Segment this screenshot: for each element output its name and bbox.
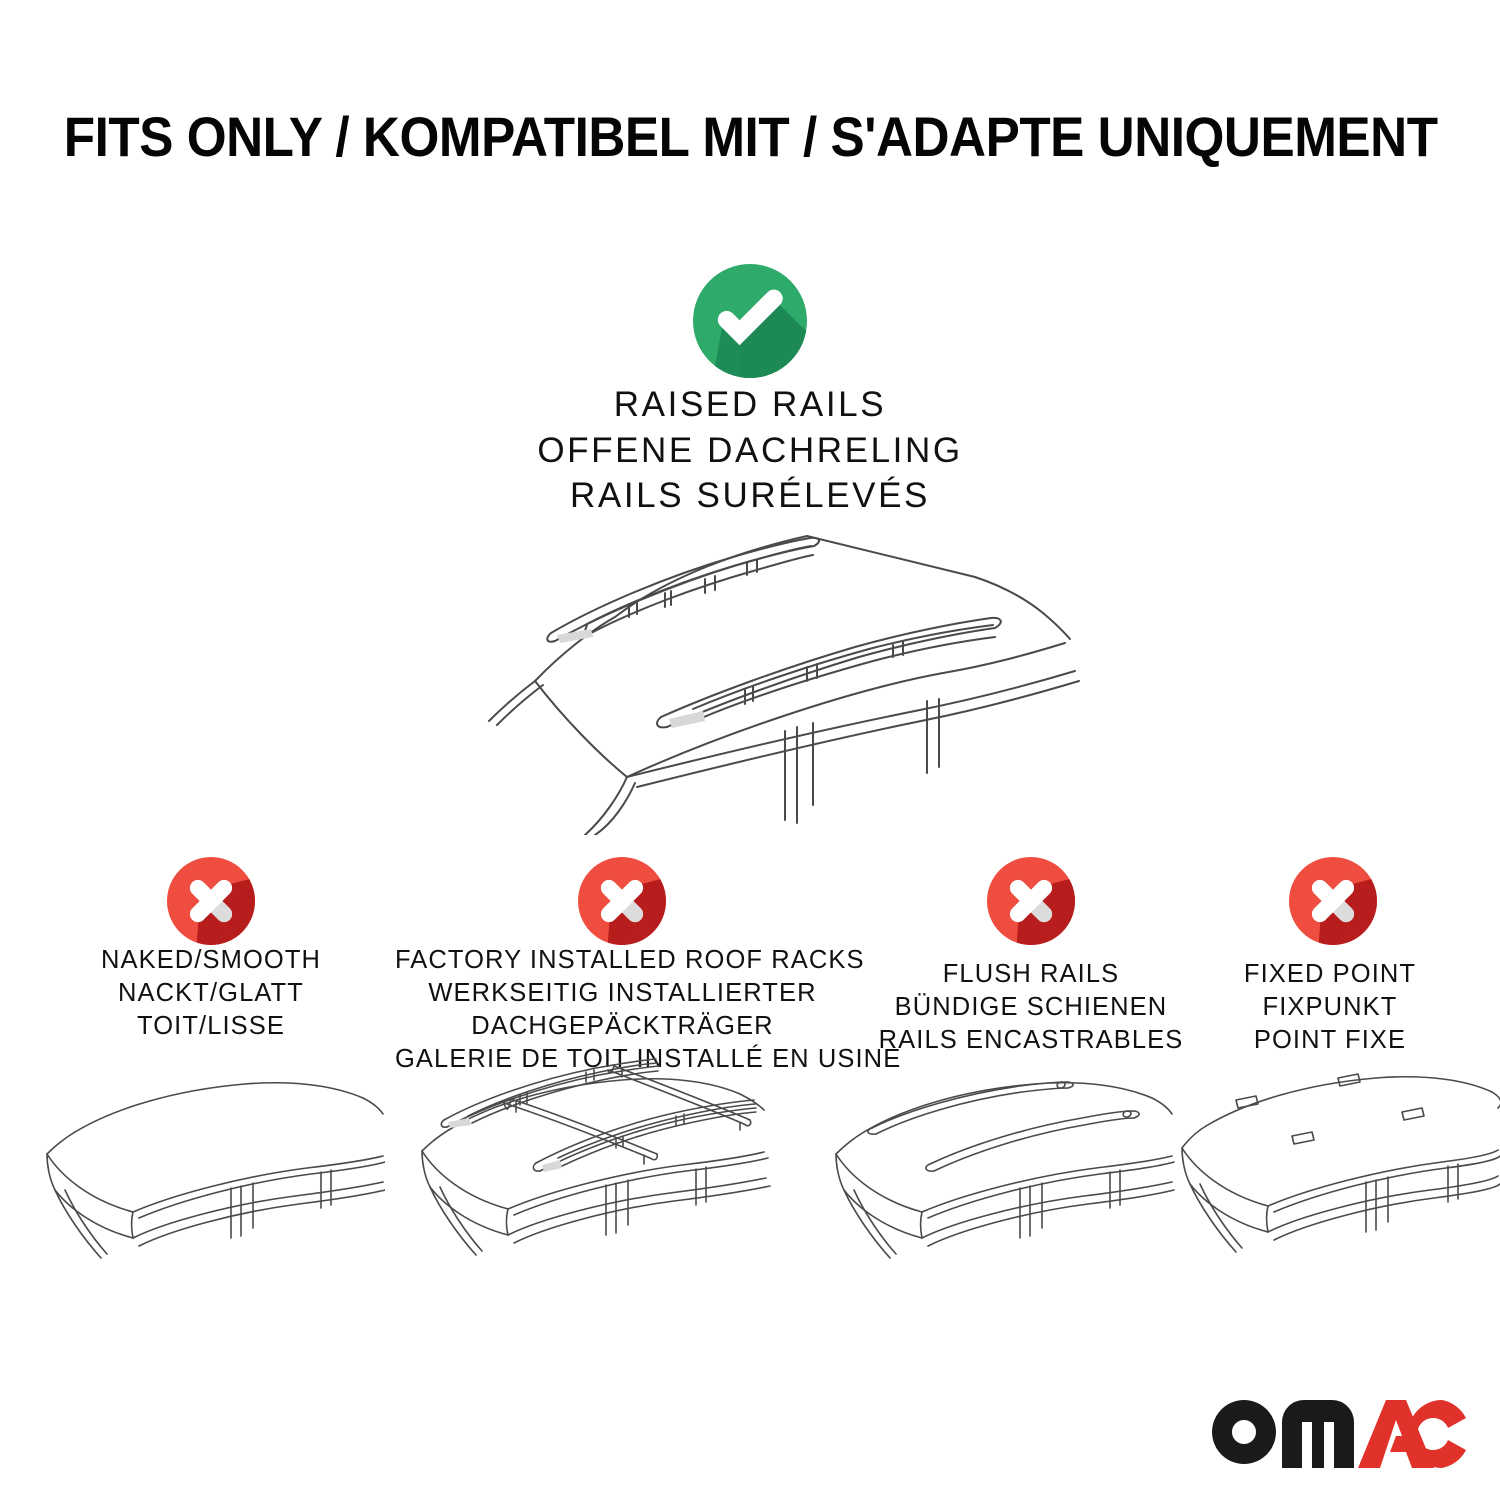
caption-line: FACTORY INSTALLED ROOF RACKS xyxy=(395,944,850,977)
car-roof-fixed-point-illustration xyxy=(1180,1060,1500,1295)
car-roof-naked-smooth-illustration xyxy=(45,1060,385,1295)
omac-logo xyxy=(1208,1396,1468,1472)
caption-line: OFFENE DACHRELING xyxy=(250,428,1250,474)
check-circle-icon xyxy=(689,260,811,382)
cross-circle-icon xyxy=(165,855,257,947)
car-roof-with-raised-rails-illustration xyxy=(415,505,1085,835)
fitment-infographic: { "header": { "title": "FITS ONLY / KOMP… xyxy=(0,0,1500,1500)
incompatible-caption-fixed-point: FIXED POINT FIXPUNKT POINT FIXE xyxy=(1180,958,1480,1057)
incompatible-caption-flush-rails: FLUSH RAILS BÜNDIGE SCHIENEN RAILS ENCAS… xyxy=(855,958,1207,1057)
caption-line: WERKSEITIG INSTALLIERTER xyxy=(395,977,850,1010)
caption-line: FLUSH RAILS xyxy=(855,958,1207,991)
caption-line: NAKED/SMOOTH xyxy=(20,944,402,977)
cross-circle-icon xyxy=(576,855,668,947)
caption-line: DACHGEPÄCKTRÄGER xyxy=(395,1010,850,1043)
caption-line: FIXPUNKT xyxy=(1180,991,1480,1024)
caption-line: FIXED POINT xyxy=(1180,958,1480,991)
caption-line: BÜNDIGE SCHIENEN xyxy=(855,991,1207,1024)
cross-circle-icon xyxy=(985,855,1077,947)
page-title: FITS ONLY / KOMPATIBEL MIT / S'ADAPTE UN… xyxy=(64,104,1437,169)
incompatible-caption-factory-racks: FACTORY INSTALLED ROOF RACKS WERKSEITIG … xyxy=(395,944,850,1077)
compatible-caption: RAISED RAILS OFFENE DACHRELING RAILS SUR… xyxy=(250,382,1250,519)
caption-line: RAISED RAILS xyxy=(250,382,1250,428)
incompatible-caption-naked-smooth: NAKED/SMOOTH NACKT/GLATT TOIT/LISSE xyxy=(20,944,402,1043)
caption-line: POINT FIXE xyxy=(1180,1024,1480,1057)
caption-line: NACKT/GLATT xyxy=(20,977,402,1010)
car-roof-flush-rails-illustration xyxy=(830,1060,1175,1295)
caption-line: RAILS ENCASTRABLES xyxy=(855,1024,1207,1057)
car-roof-factory-installed-racks-illustration xyxy=(400,1058,785,1296)
caption-line: TOIT/LISSE xyxy=(20,1010,402,1043)
cross-circle-icon xyxy=(1287,855,1379,947)
